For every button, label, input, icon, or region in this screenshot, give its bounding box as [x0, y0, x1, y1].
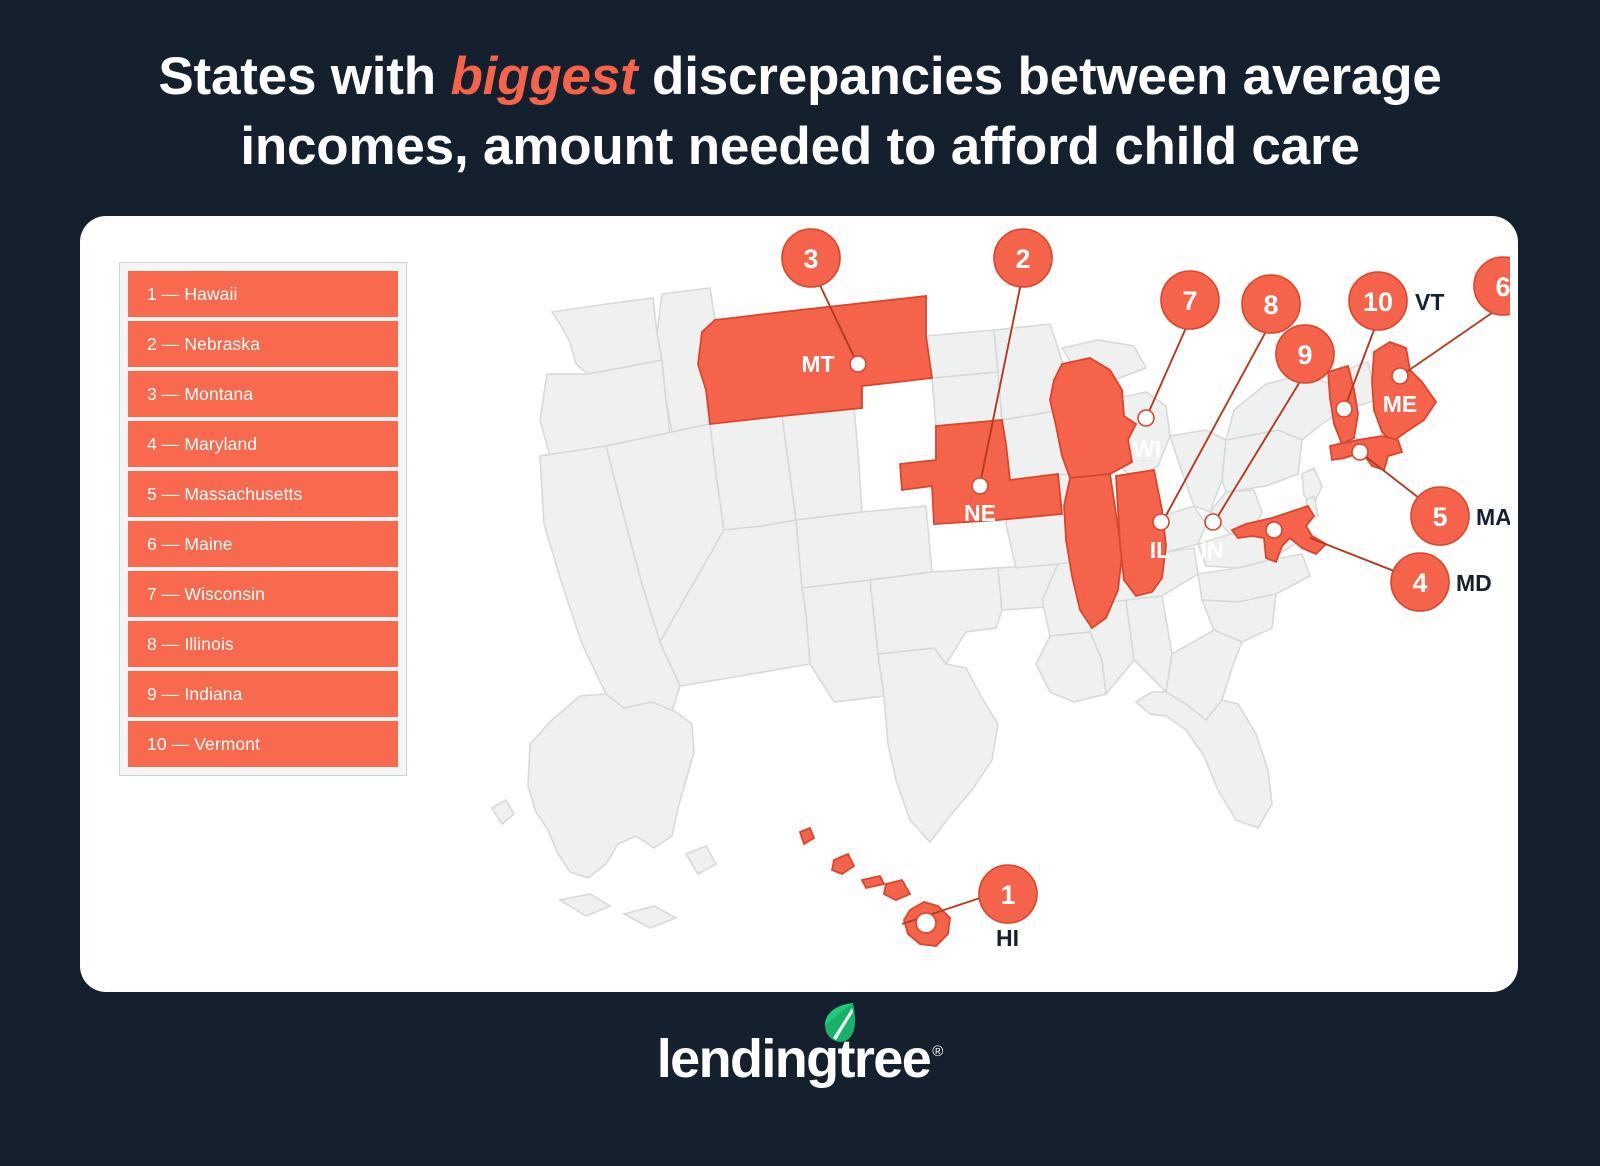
leader-line-maine [1402, 306, 1502, 375]
infographic-root: States with biggest discrepancies betwee… [0, 0, 1600, 1166]
rank-legend: 1 — Hawaii 2 — Nebraska 3 — Montana 4 — … [119, 262, 407, 776]
anchor-vermont [1336, 401, 1352, 417]
pin-label-8: 8 [1263, 290, 1278, 320]
title-text-pre: States with [158, 47, 450, 106]
pin-label-1: 1 [1000, 880, 1015, 910]
title-text-post: discrepancies between average [638, 47, 1442, 106]
title-line-2: incomes, amount needed to afford child c… [0, 112, 1600, 182]
anchor-montana [850, 356, 866, 372]
state-indiana[interactable] [1116, 470, 1166, 596]
state-abbr-hi: HI [996, 925, 1019, 951]
list-item[interactable]: 3 — Montana [128, 371, 398, 417]
legend-item-label: 6 — Maine [147, 534, 233, 555]
list-item[interactable]: 4 — Maryland [128, 421, 398, 467]
brand-logo[interactable]: lendingtree ® [0, 1032, 1600, 1086]
anchor-wisconsin [1138, 410, 1154, 426]
leaf-icon [823, 1002, 857, 1044]
state-abbr-il: IL [1150, 537, 1170, 563]
anchor-hawaii [916, 913, 936, 933]
anchor-indiana [1205, 514, 1221, 530]
legend-item-label: 10 — Vermont [147, 734, 260, 755]
list-item[interactable]: 7 — Wisconsin [128, 571, 398, 617]
legend-item-label: 2 — Nebraska [147, 334, 260, 355]
title-highlight-word: biggest [450, 47, 637, 106]
leader-line-wisconsin [1147, 321, 1189, 416]
state-abbr-vt: VT [1415, 289, 1444, 315]
pin-label-2: 2 [1015, 244, 1030, 274]
list-item[interactable]: 6 — Maine [128, 521, 398, 567]
list-item[interactable]: 9 — Indiana [128, 671, 398, 717]
list-item[interactable]: 1 — Hawaii [128, 271, 398, 317]
state-abbr-wi: WI [1133, 436, 1161, 462]
pin-label-5: 5 [1432, 502, 1447, 532]
page-title: States with biggest discrepancies betwee… [0, 42, 1600, 182]
pin-label-7: 7 [1182, 286, 1197, 316]
legend-item-label: 9 — Indiana [147, 684, 242, 705]
title-line-1: States with biggest discrepancies betwee… [0, 42, 1600, 112]
map-states-inactive [492, 288, 1376, 928]
pin-label-9: 9 [1297, 340, 1312, 370]
list-item[interactable]: 5 — Massachusetts [128, 471, 398, 517]
anchor-nebraska [972, 478, 988, 494]
legend-item-label: 5 — Massachusetts [147, 484, 302, 505]
state-abbr-mt: MT [801, 351, 834, 377]
state-abbr-ne: NE [964, 500, 996, 526]
pin-label-3: 3 [803, 244, 818, 274]
anchor-maine [1392, 368, 1408, 384]
state-abbr-ma: MA [1476, 504, 1510, 530]
legend-item-label: 4 — Maryland [147, 434, 257, 455]
us-choropleth-map: MT 3 NE 2 WI 7 [410, 224, 1510, 984]
legend-item-label: 8 — Illinois [147, 634, 234, 655]
list-item[interactable]: 8 — Illinois [128, 621, 398, 667]
state-abbr-md: MD [1456, 570, 1492, 596]
list-item[interactable]: 10 — Vermont [128, 721, 398, 767]
registered-trademark-mark: ® [932, 1043, 943, 1060]
anchor-maryland [1266, 522, 1282, 538]
legend-item-label: 3 — Montana [147, 384, 253, 405]
pin-label-6: 6 [1495, 272, 1510, 302]
anchor-massachusetts [1352, 444, 1368, 460]
logo-wordmark: lendingtree [657, 1032, 930, 1086]
state-abbr-in: IN [1201, 537, 1224, 563]
pin-label-4: 4 [1412, 568, 1427, 598]
content-card: 1 — Hawaii 2 — Nebraska 3 — Montana 4 — … [80, 216, 1518, 992]
legend-item-label: 7 — Wisconsin [147, 584, 265, 605]
anchor-illinois [1153, 514, 1169, 530]
list-item[interactable]: 2 — Nebraska [128, 321, 398, 367]
legend-item-label: 1 — Hawaii [147, 284, 237, 305]
state-abbr-me: ME [1383, 391, 1418, 417]
pin-label-10: 10 [1363, 287, 1393, 317]
